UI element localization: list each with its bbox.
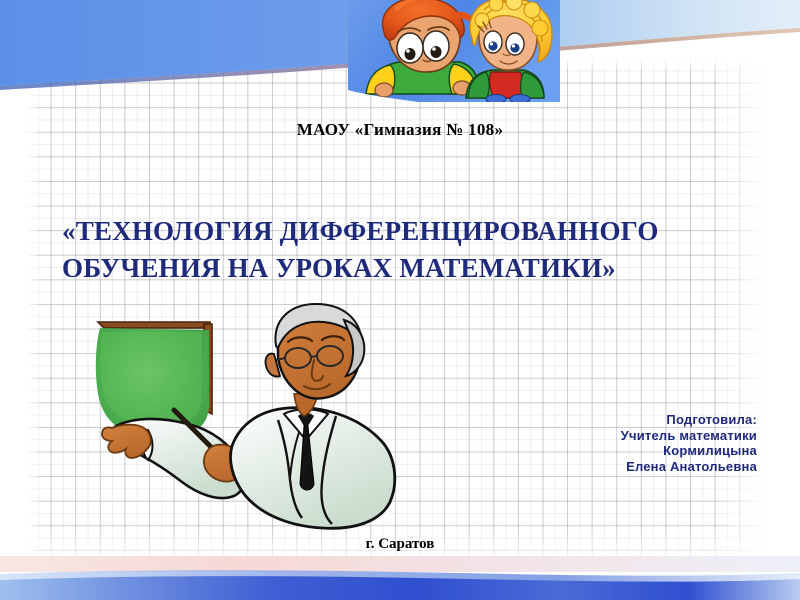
page-title-line-2: ОБУЧЕНИЯ НА УРОКАХ МАТЕМАТИКИ»	[62, 250, 702, 287]
author-surname: Кормилицына	[621, 443, 757, 459]
page-title: «ТЕХНОЛОГИЯ ДИФФЕРЕНЦИРОВАННОГО ОБУЧЕНИЯ…	[62, 213, 702, 287]
teacher-chalkboard-illustration	[92, 298, 402, 548]
cartoon-children-illustration	[348, 0, 560, 102]
school-name: МАОУ «Гимназия № 108»	[0, 120, 800, 140]
presentation-slide: МАОУ «Гимназия № 108» «ТЕХНОЛОГИЯ ДИФФЕР…	[0, 0, 800, 600]
author-role: Учитель математики	[621, 428, 757, 444]
author-label: Подготовила:	[621, 412, 757, 428]
page-title-line-1: «ТЕХНОЛОГИЯ ДИФФЕРЕНЦИРОВАННОГО	[62, 213, 702, 250]
author-block: Подготовила: Учитель математики Кормилиц…	[621, 412, 757, 474]
author-given-patronymic: Елена Анатольевна	[621, 459, 757, 475]
